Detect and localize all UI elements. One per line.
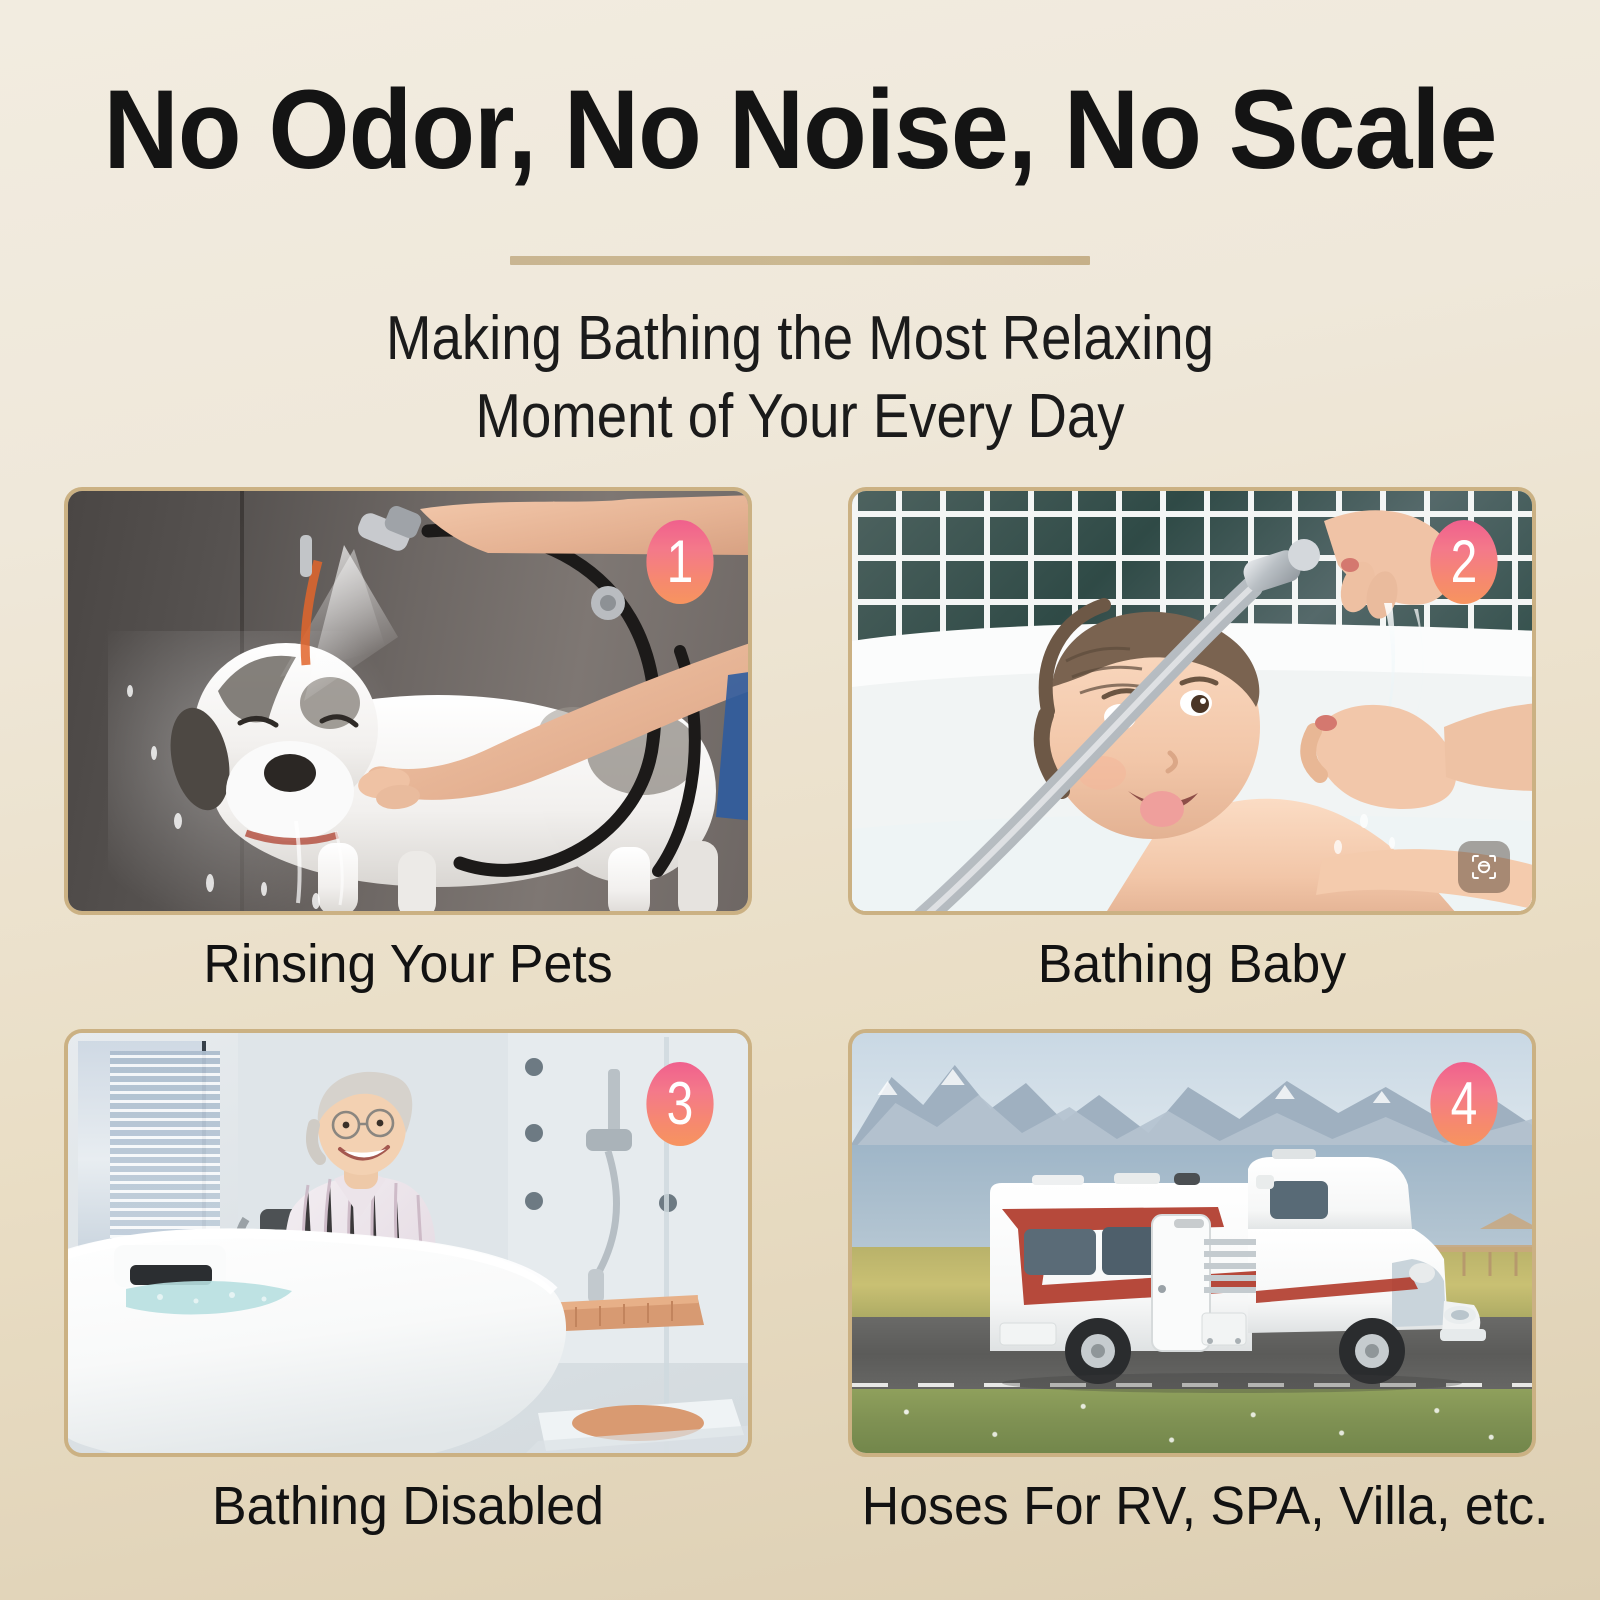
card-badge-1: 1 [646, 520, 713, 604]
card-caption-3: Bathing Disabled [78, 1475, 738, 1537]
feature-card-baby[interactable]: 2 [848, 487, 1536, 915]
card-caption-2: Bathing Baby [862, 933, 1522, 995]
feature-card-rv[interactable]: 4 [848, 1029, 1536, 1457]
feature-cell-1: 1 Rinsing Your Pets [64, 487, 752, 915]
feature-cell-4: 4 Hoses For RV, SPA, Villa, etc. [848, 1029, 1536, 1457]
page-subtitle: Making Bathing the Most Relaxing Moment … [96, 300, 1504, 456]
badge-wrap-3: 3 [638, 1062, 722, 1146]
feature-card-pets[interactable]: 1 [64, 487, 752, 915]
subtitle-line-2: Moment of Your Every Day [96, 378, 1504, 456]
badge-wrap-2: 2 [1422, 520, 1506, 604]
header-divider [510, 256, 1090, 265]
badge-wrap-4: 4 [1422, 1062, 1506, 1146]
card-caption-1: Rinsing Your Pets [78, 933, 738, 995]
feature-card-grid: 1 Rinsing Your Pets [64, 487, 1536, 1487]
subtitle-line-1: Making Bathing the Most Relaxing [96, 300, 1504, 378]
feature-cell-2: 2 Bathing Baby [848, 487, 1536, 915]
card-caption-4: Hoses For RV, SPA, Villa, etc. [862, 1475, 1522, 1537]
visual-search-lens-icon [1458, 841, 1510, 893]
badge-wrap-1: 1 [638, 520, 722, 604]
card-badge-4: 4 [1430, 1062, 1497, 1146]
card-badge-3: 3 [646, 1062, 713, 1146]
feature-card-disabled[interactable]: 3 [64, 1029, 752, 1457]
card-badge-2: 2 [1430, 520, 1497, 604]
feature-cell-3: 3 Bathing Disabled [64, 1029, 752, 1457]
page-headline: No Odor, No Noise, No Scale [56, 72, 1544, 188]
